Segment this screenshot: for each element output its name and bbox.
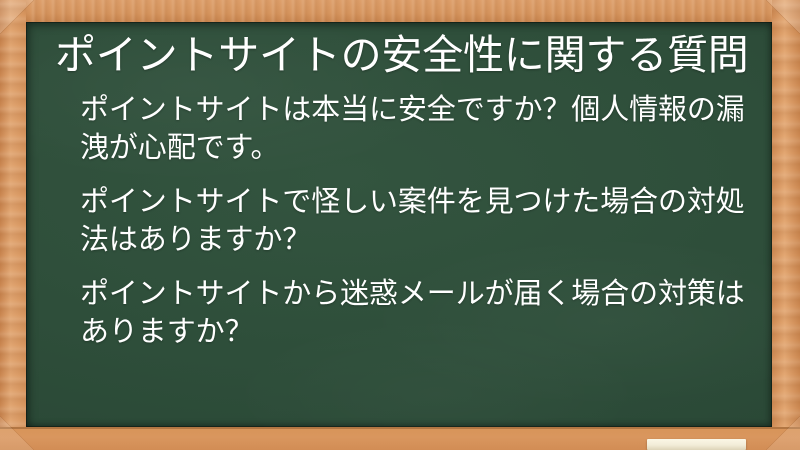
frame-rail-bottom	[0, 427, 800, 450]
chalkboard-surface: ポイントサイトの安全性に関する質問 ポイントサイトは本当に安全ですか？個人情報の…	[26, 22, 772, 427]
question-item-1: ポイントサイトは本当に安全ですか？個人情報の漏洩が心配です。	[80, 91, 748, 167]
chalk-stick	[647, 439, 746, 450]
frame-rail-right	[772, 0, 800, 450]
frame-rail-top	[0, 0, 800, 22]
chalkboard-content: ポイントサイトの安全性に関する質問 ポイントサイトは本当に安全ですか？個人情報の…	[26, 22, 772, 351]
question-item-3: ポイントサイトから迷惑メールが届く場合の対策はありますか？	[80, 275, 748, 351]
frame-rail-left	[0, 0, 26, 450]
question-list: ポイントサイトは本当に安全ですか？個人情報の漏洩が心配です。 ポイントサイトで怪…	[55, 91, 748, 351]
page-title: ポイントサイトの安全性に関する質問	[55, 30, 748, 80]
question-item-2: ポイントサイトで怪しい案件を見つけた場合の対処法はありますか？	[80, 183, 748, 259]
chalkboard-frame: ポイントサイトの安全性に関する質問 ポイントサイトは本当に安全ですか？個人情報の…	[0, 0, 800, 450]
